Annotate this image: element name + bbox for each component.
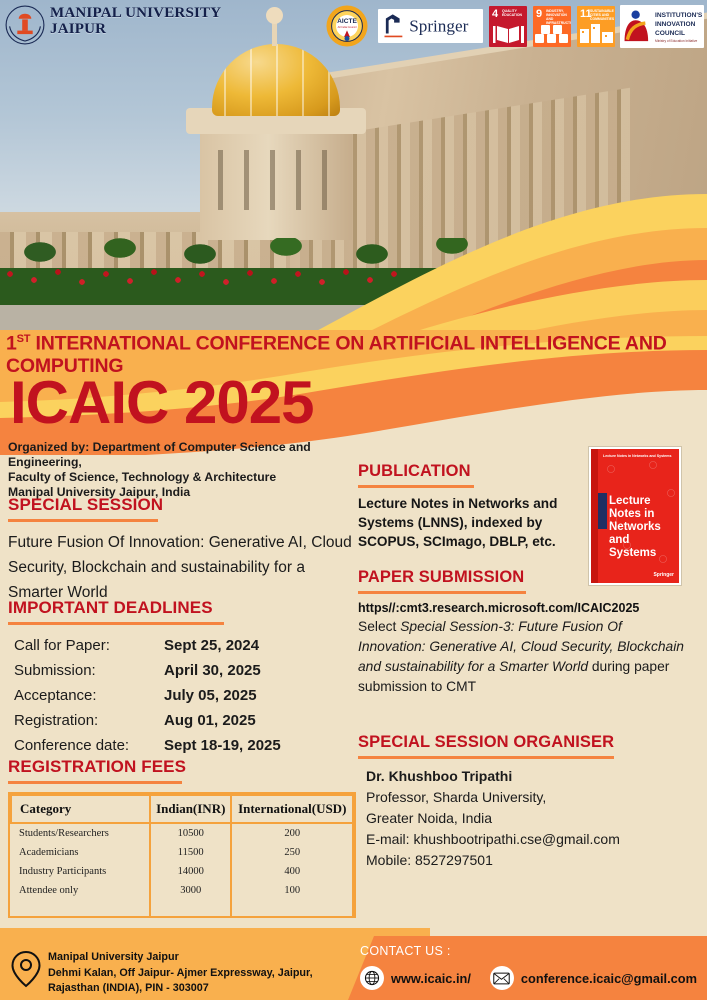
fee-category: Industry Participants bbox=[11, 862, 150, 881]
organiser-email[interactable]: E-mail: khushbootripathi.cse@gmail.com bbox=[366, 829, 706, 850]
conference-poster: MANIPAL UNIVERSITY JAIPUR AICTE All Indi… bbox=[0, 0, 707, 1000]
organiser-details: Dr. Khushboo Tripathi Professor, Sharda … bbox=[358, 766, 706, 871]
contact-links-row: www.icaic.in/ conference.icaic@gmail.com bbox=[360, 966, 697, 990]
fee-inr: 11500 bbox=[150, 843, 231, 862]
svg-text:AICTE: AICTE bbox=[337, 18, 357, 25]
fees-col-inr: Indian(INR) bbox=[150, 795, 231, 823]
submission-instruction: Select Special Session-3: Future Fusion … bbox=[358, 617, 688, 697]
organiser-mobile: Mobile: 8527297501 bbox=[366, 850, 706, 871]
deadline-label: Conference date: bbox=[8, 733, 164, 758]
envelope-icon bbox=[490, 966, 514, 990]
registration-fees-section: REGISTRATION FEES Category Indian(INR) I… bbox=[8, 757, 356, 918]
table-row: Academicians 11500 250 bbox=[11, 843, 353, 862]
sponsor-logo-bar: MANIPAL UNIVERSITY JAIPUR AICTE All Indi… bbox=[0, 0, 707, 52]
email-link[interactable]: conference.icaic@gmail.com bbox=[521, 971, 697, 986]
deadline-value: April 30, 2025 bbox=[164, 658, 281, 683]
sdg4-logo: 4 QUALITY EDUCATION bbox=[489, 6, 527, 47]
fee-inr: 14000 bbox=[150, 862, 231, 881]
organiser-affiliation: Professor, Sharda University, bbox=[366, 787, 706, 808]
organiser-heading: SPECIAL SESSION ORGANISER bbox=[358, 733, 614, 754]
deadline-value: Sept 18-19, 2025 bbox=[164, 733, 281, 758]
svg-text:Springer: Springer bbox=[409, 16, 468, 35]
fees-table-wrapper: Category Indian(INR) International(USD) … bbox=[8, 792, 356, 918]
deadlines-rule bbox=[8, 622, 224, 625]
deadlines-heading: IMPORTANT DEADLINES bbox=[8, 598, 213, 620]
fee-inr: 10500 bbox=[150, 823, 231, 843]
iic-logo: INSTITUTION'S INNOVATION COUNCIL Ministr… bbox=[620, 5, 704, 48]
table-row: Industry Participants 14000 400 bbox=[11, 862, 353, 881]
fees-heading: REGISTRATION FEES bbox=[8, 757, 186, 779]
sdg9-logo: 9 INDUSTRY, INNOVATION AND INFRASTRUCTUR… bbox=[533, 6, 571, 47]
table-row: Acceptance: July 05, 2025 bbox=[8, 683, 281, 708]
svg-text:INSTITUTION'S: INSTITUTION'S bbox=[655, 12, 703, 19]
university-name-text: MANIPAL UNIVERSITY JAIPUR bbox=[50, 6, 221, 37]
table-row: Submission: April 30, 2025 bbox=[8, 658, 281, 683]
footer-address-line2: Dehmi Kalan, Off Jaipur- Ajmer Expresswa… bbox=[48, 966, 313, 982]
special-session-section: SPECIAL SESSION Future Fusion Of Innovat… bbox=[8, 495, 356, 605]
organized-by-line1: Organized by: Department of Computer Sci… bbox=[8, 440, 368, 470]
special-session-organiser-section: SPECIAL SESSION ORGANISER Dr. Khushboo T… bbox=[358, 733, 706, 871]
footer-address: Manipal University Jaipur Dehmi Kalan, O… bbox=[48, 950, 313, 997]
organiser-location: Greater Noida, India bbox=[366, 808, 706, 829]
fee-usd: 200 bbox=[231, 823, 353, 843]
deadline-value: Sept 25, 2024 bbox=[164, 633, 281, 658]
deadline-value: July 05, 2025 bbox=[164, 683, 281, 708]
table-row: Students/Researchers 10500 200 bbox=[11, 823, 353, 843]
conference-acronym: ICAIC 2025 bbox=[10, 372, 313, 434]
fee-usd: 400 bbox=[231, 862, 353, 881]
university-name-line1: MANIPAL UNIVERSITY bbox=[50, 6, 221, 22]
aicte-logo: AICTE All India Council bbox=[325, 4, 369, 48]
book-title: Lecture Notes in Networks and Systems bbox=[609, 495, 675, 560]
svg-text:COUNCIL: COUNCIL bbox=[655, 30, 685, 37]
fee-usd: 100 bbox=[231, 881, 353, 916]
lnns-book-cover: Lecture Notes in Networks and Systems Le… bbox=[588, 446, 682, 586]
conference-title-ordinal-num: 1 bbox=[6, 333, 17, 355]
organized-by-block: Organized by: Department of Computer Sci… bbox=[8, 440, 368, 500]
fees-rule bbox=[8, 781, 182, 784]
table-row: Registration: Aug 01, 2025 bbox=[8, 708, 281, 733]
conference-title-ordinal-suffix: ST bbox=[17, 333, 31, 345]
publication-body: Lecture Notes in Networks and Systems (L… bbox=[358, 494, 580, 551]
fee-inr: 3000 bbox=[150, 881, 231, 916]
deadlines-table: Call for Paper: Sept 25, 2024 Submission… bbox=[8, 633, 281, 758]
deadline-value: Aug 01, 2025 bbox=[164, 708, 281, 733]
deadline-label: Call for Paper: bbox=[8, 633, 164, 658]
paper-submission-rule bbox=[358, 591, 526, 594]
deadline-label: Acceptance: bbox=[8, 683, 164, 708]
organiser-rule bbox=[358, 756, 614, 759]
sdg4-number: 4 bbox=[492, 8, 498, 20]
submission-instruction-pre: Select bbox=[358, 619, 400, 634]
fee-category: Attendee only bbox=[11, 881, 150, 916]
table-row: Conference date: Sept 18-19, 2025 bbox=[8, 733, 281, 758]
svg-text:All India Council: All India Council bbox=[338, 25, 357, 29]
special-session-body: Future Fusion Of Innovation: Generative … bbox=[8, 530, 356, 605]
sdg11-label: SUSTAINABLE CITIES AND COMMUNITIES bbox=[590, 9, 614, 21]
publication-heading: PUBLICATION bbox=[358, 462, 471, 483]
sdg4-book-icon bbox=[489, 22, 527, 44]
website-link[interactable]: www.icaic.in/ bbox=[391, 971, 471, 986]
sdg11-logo: 11 SUSTAINABLE CITIES AND COMMUNITIES bbox=[577, 6, 615, 47]
fees-table: Category Indian(INR) International(USD) … bbox=[10, 794, 354, 916]
sdg11-city-icon bbox=[577, 22, 615, 44]
organized-by-line2: Faculty of Science, Technology & Archite… bbox=[8, 470, 368, 485]
paper-submission-section: PAPER SUBMISSION https//:cmt3.research.m… bbox=[358, 568, 706, 697]
sdg9-cubes-icon bbox=[533, 22, 571, 44]
fee-category: Academicians bbox=[11, 843, 150, 862]
table-row: Call for Paper: Sept 25, 2024 bbox=[8, 633, 281, 658]
manipal-university-logo bbox=[4, 4, 46, 46]
deadline-label: Submission: bbox=[8, 658, 164, 683]
organiser-name: Dr. Khushboo Tripathi bbox=[366, 766, 706, 787]
sdg9-number: 9 bbox=[536, 8, 542, 20]
footer-address-line1: Manipal University Jaipur bbox=[48, 950, 313, 966]
fees-col-category: Category bbox=[11, 795, 150, 823]
fees-header-row: Category Indian(INR) International(USD) bbox=[11, 795, 353, 823]
publication-rule bbox=[358, 485, 474, 488]
book-blue-tab bbox=[598, 493, 607, 529]
contact-us-label: CONTACT US : bbox=[360, 944, 451, 958]
footer-address-line3: Rajasthan (INDIA), PIN - 303007 bbox=[48, 981, 313, 997]
fee-category: Students/Researchers bbox=[11, 823, 150, 843]
book-top-line: Lecture Notes in Networks and Systems bbox=[603, 454, 675, 459]
submission-url[interactable]: https//:cmt3.research.microsoft.com/ICAI… bbox=[358, 601, 706, 615]
globe-icon bbox=[360, 966, 384, 990]
special-session-heading: SPECIAL SESSION bbox=[8, 495, 163, 517]
svg-text:Ministry of Education Initiati: Ministry of Education Initiative bbox=[655, 39, 697, 43]
location-pin-icon bbox=[10, 950, 42, 988]
poster-footer: Manipal University Jaipur Dehmi Kalan, O… bbox=[0, 928, 707, 1000]
fee-usd: 250 bbox=[231, 843, 353, 862]
fees-col-usd: International(USD) bbox=[231, 795, 353, 823]
important-deadlines-section: IMPORTANT DEADLINES Call for Paper: Sept… bbox=[8, 598, 356, 758]
deadline-label: Registration: bbox=[8, 708, 164, 733]
special-session-rule bbox=[8, 519, 158, 522]
springer-logo: Springer bbox=[378, 9, 483, 43]
university-name-line2: JAIPUR bbox=[50, 22, 221, 38]
sdg4-label: QUALITY EDUCATION bbox=[502, 9, 526, 17]
paper-submission-heading: PAPER SUBMISSION bbox=[358, 568, 524, 589]
svg-text:INNOVATION: INNOVATION bbox=[655, 21, 696, 28]
table-row: Attendee only 3000 100 bbox=[11, 881, 353, 916]
